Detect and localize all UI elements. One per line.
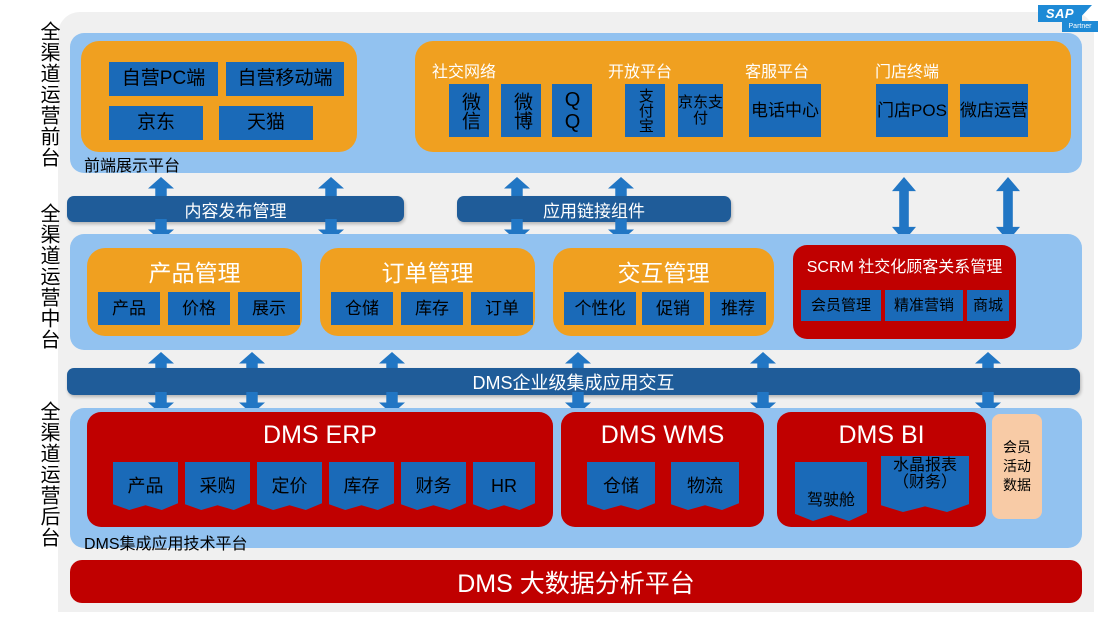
- sap-partner-logo: SAP Partner: [1032, 1, 1100, 35]
- bigdata-platform-bar[interactable]: DMS 大数据分析平台: [70, 560, 1082, 603]
- middle-panel-product: 产品管理 产品 价格 展示: [87, 248, 302, 336]
- sap-partner-text: Partner: [1062, 21, 1098, 32]
- middle-panel-scrm: SCRM 社交化顾客关系管理 会员管理 精准营销 商城: [793, 245, 1016, 339]
- back-panel-bi: DMS BI 驾驶舱 水晶报表 （财务）: [777, 412, 986, 527]
- back-panel-erp: DMS ERP 产品 采购 定价 库存 财务 HR: [87, 412, 553, 527]
- erp-chip-purchase[interactable]: 采购: [185, 462, 250, 510]
- scrm-chip-member[interactable]: 会员管理: [801, 290, 881, 321]
- channel-chip-pc[interactable]: 自营PC端: [109, 62, 218, 96]
- back-panel-wms: DMS WMS 仓储 物流: [561, 412, 764, 527]
- side-label-middle: 全渠道运营中台: [0, 196, 58, 356]
- middle-chip-price[interactable]: 价格: [168, 292, 230, 325]
- erp-chip-hr[interactable]: HR: [473, 462, 535, 510]
- channel-chip-tmall[interactable]: 天猫: [219, 106, 313, 140]
- member-activity-data-label: 会员活动数据: [1001, 438, 1033, 495]
- self-operated-panel: 自营PC端 自营移动端 京东 天猫: [81, 41, 357, 152]
- middle-chip-personalize[interactable]: 个性化: [564, 292, 636, 325]
- member-activity-data-box[interactable]: 会员活动数据: [992, 414, 1042, 519]
- scrm-chip-mall[interactable]: 商城: [967, 290, 1009, 321]
- back-panel-erp-title: DMS ERP: [87, 421, 553, 450]
- erp-chip-stock[interactable]: 库存: [329, 462, 394, 510]
- side-label-front: 全渠道运营前台: [0, 14, 58, 174]
- wms-chip-logistics[interactable]: 物流: [671, 462, 739, 510]
- scrm-chip-marketing[interactable]: 精准营销: [885, 290, 963, 321]
- wms-chip-warehouse[interactable]: 仓储: [587, 462, 655, 510]
- side-label-back: 全渠道运营后台: [0, 392, 58, 557]
- channel-chip-alipay[interactable]: 支付宝: [625, 84, 665, 137]
- diagram-canvas: SAP Partner 全渠道运营前台 全渠道运营中台 全渠道运营后台 前端展示…: [0, 0, 1102, 617]
- middle-chip-warehouse[interactable]: 仓储: [331, 292, 393, 325]
- scrm-title: SCRM 社交化顾客关系管理: [793, 253, 1016, 277]
- channel-chip-mobile[interactable]: 自营移动端: [226, 62, 344, 96]
- erp-chip-product[interactable]: 产品: [113, 462, 178, 510]
- bi-chip-cockpit[interactable]: 驾驶舱: [795, 462, 867, 521]
- channel-chip-jd[interactable]: 京东: [109, 106, 203, 140]
- back-office-caption: DMS集成应用技术平台: [84, 530, 248, 554]
- channel-chip-pos[interactable]: 门店POS: [876, 84, 948, 137]
- back-panel-bi-title: DMS BI: [777, 421, 986, 450]
- middle-chip-recommend[interactable]: 推荐: [710, 292, 766, 325]
- channel-chip-jdpay[interactable]: 京东支付: [678, 84, 723, 137]
- middle-chip-product[interactable]: 产品: [98, 292, 160, 325]
- middle-panel-product-title: 产品管理: [87, 254, 302, 288]
- group-title-social: 社交网络: [432, 58, 496, 82]
- connector-dms-integration[interactable]: DMS企业级集成应用交互: [67, 368, 1080, 395]
- middle-panel-interaction-title: 交互管理: [553, 254, 774, 288]
- external-channels-panel: 社交网络 开放平台 客服平台 门店终端 微信 微博 QQ 支付宝 京东支付 电话…: [415, 41, 1071, 152]
- front-office-caption: 前端展示平台: [84, 152, 180, 176]
- channel-chip-microstore[interactable]: 微店运营: [960, 84, 1028, 137]
- group-title-open: 开放平台: [608, 58, 672, 82]
- erp-chip-finance[interactable]: 财务: [401, 462, 466, 510]
- back-panel-wms-title: DMS WMS: [561, 421, 764, 450]
- middle-panel-interaction: 交互管理 个性化 促销 推荐: [553, 248, 774, 336]
- channel-chip-callcenter[interactable]: 电话中心: [749, 84, 821, 137]
- middle-panel-order: 订单管理 仓储 库存 订单: [320, 248, 535, 336]
- bi-chip-crystal-report[interactable]: 水晶报表 （财务）: [881, 456, 969, 512]
- connector-content-publish[interactable]: 内容发布管理: [67, 196, 404, 222]
- group-title-store: 门店终端: [875, 58, 939, 82]
- erp-chip-pricing[interactable]: 定价: [257, 462, 322, 510]
- channel-chip-wechat[interactable]: 微信: [449, 84, 489, 137]
- middle-panel-order-title: 订单管理: [320, 254, 535, 288]
- middle-chip-order[interactable]: 订单: [471, 292, 533, 325]
- channel-chip-weibo[interactable]: 微博: [501, 84, 541, 137]
- middle-chip-stock[interactable]: 库存: [401, 292, 463, 325]
- sap-logo-text: SAP: [1038, 5, 1082, 22]
- middle-chip-display[interactable]: 展示: [238, 292, 300, 325]
- middle-chip-promotion[interactable]: 促销: [642, 292, 704, 325]
- group-title-service: 客服平台: [745, 58, 809, 82]
- channel-chip-qq[interactable]: QQ: [552, 84, 592, 137]
- connector-app-link[interactable]: 应用链接组件: [457, 196, 731, 222]
